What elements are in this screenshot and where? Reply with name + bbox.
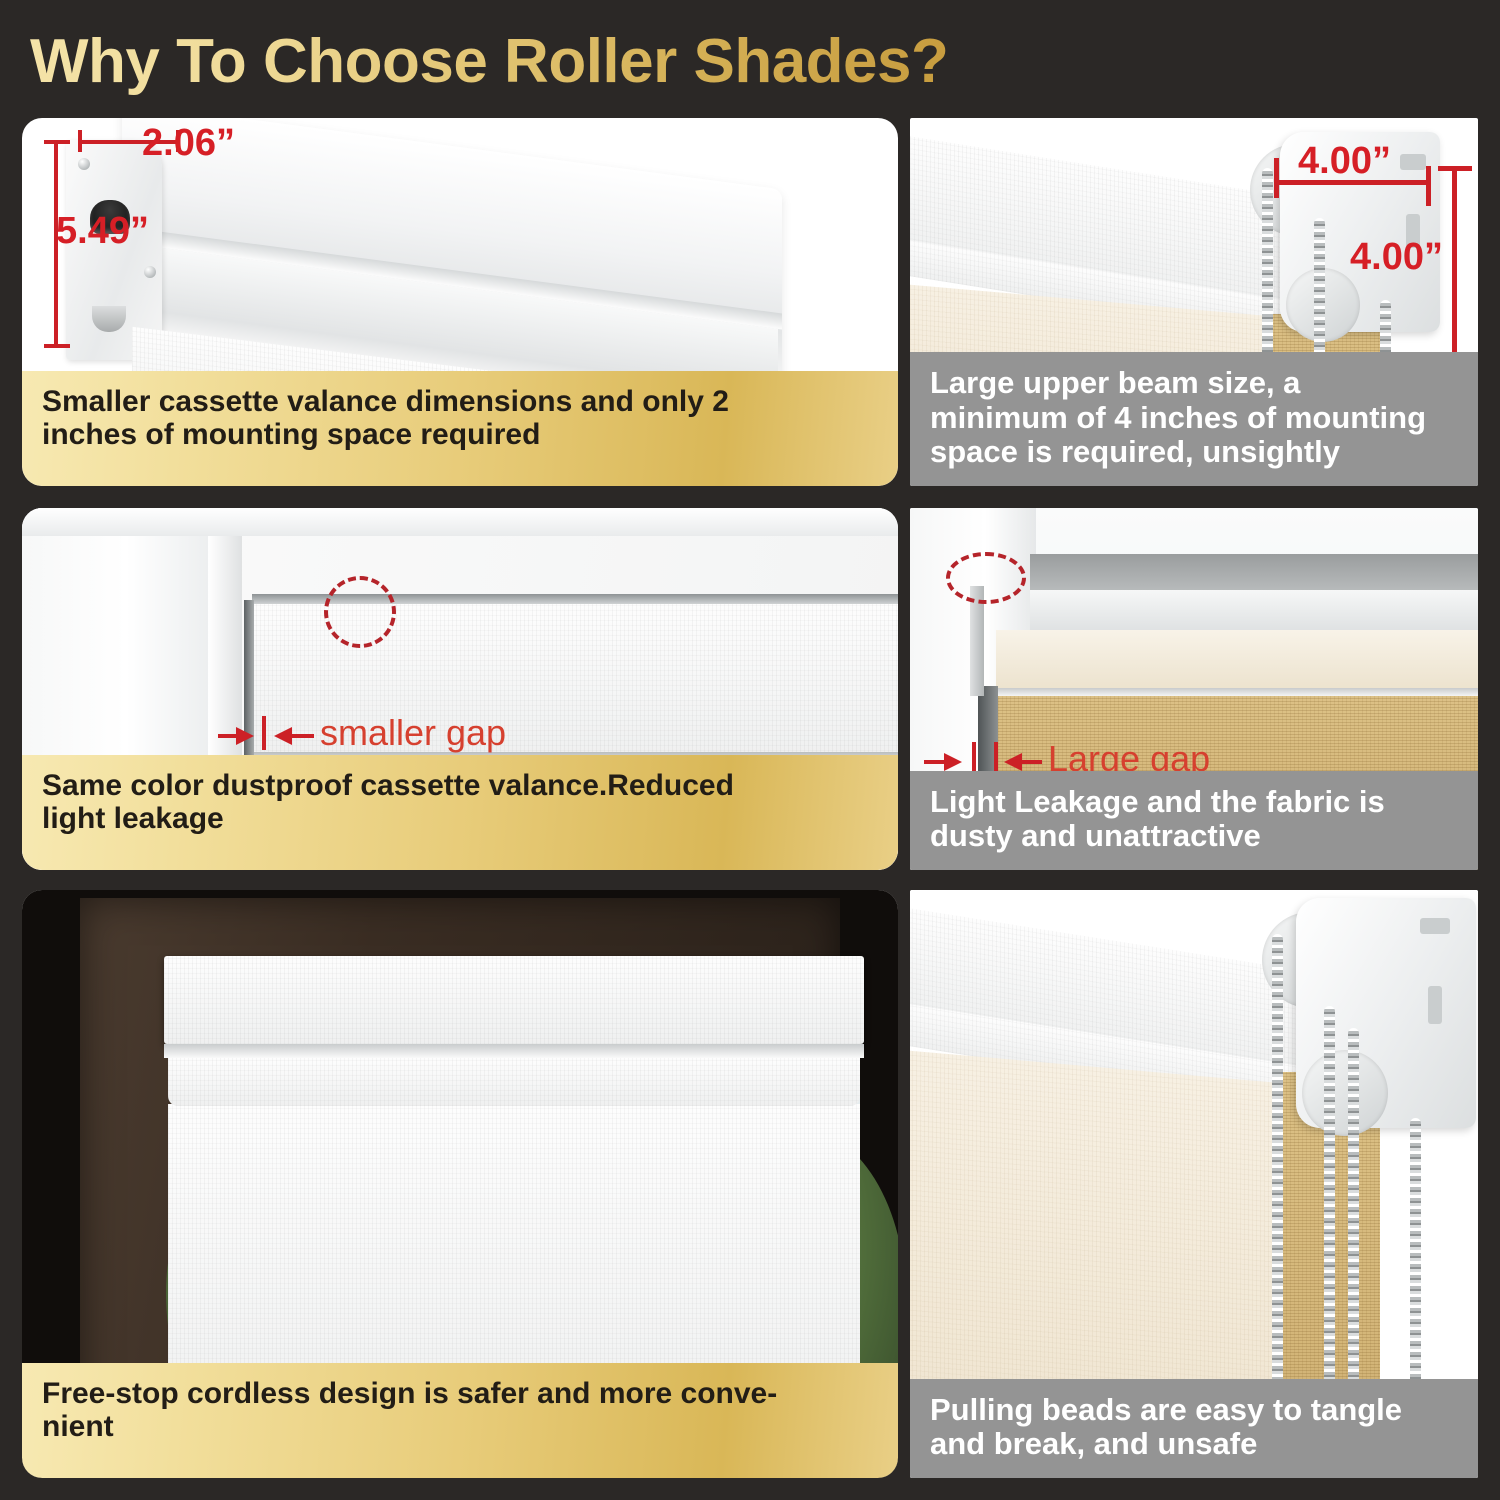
- caption-line: Large upper beam size, a: [930, 366, 1458, 401]
- roller-tube-shadow: [1030, 554, 1478, 594]
- caption-line: minimum of 4 inches of mounting: [930, 401, 1458, 436]
- panel-6-caption: Pulling beads are easy to tangle and bre…: [910, 1379, 1478, 1478]
- panel-cassette-dimensions: 2.06” 5.49” Smaller cassette valance dim…: [22, 118, 898, 486]
- height-dimension-label: 4.00”: [1350, 236, 1443, 279]
- width-dim-tick-right: [1426, 166, 1431, 206]
- height-dim-line: [1452, 166, 1457, 378]
- panel-3-caption: Same color dustproof cassette valance.Re…: [22, 755, 898, 870]
- height-dimension-label: 5.49”: [56, 210, 149, 253]
- panel-large-beam: 4.00” 4.00” Large upper beam size, a min…: [910, 118, 1478, 486]
- caption-line: inches of mounting space required: [42, 418, 878, 452]
- caption-line: Smaller cassette valance dimensions and …: [42, 385, 878, 419]
- panel-2-caption: Large upper beam size, a minimum of 4 in…: [910, 352, 1478, 486]
- caption-line: Pulling beads are easy to tangle: [930, 1393, 1458, 1428]
- gap-arrow-tail-right: [292, 734, 314, 738]
- width-dim-tick-left: [78, 130, 82, 152]
- caption-line: Free-stop cordless design is safer and m…: [42, 1377, 878, 1411]
- smaller-gap-label: smaller gap: [320, 712, 506, 754]
- valance-lip: [164, 1044, 864, 1058]
- page-title-text: Why To Choose Roller Shades?: [30, 26, 948, 97]
- gap-arrow-left: [274, 727, 292, 745]
- gap-arrow-tail-left: [924, 760, 946, 764]
- width-dim-tick-left: [1274, 158, 1279, 198]
- gap-arrow-right: [236, 727, 254, 745]
- cream-valance-band: [996, 630, 1478, 692]
- gap-highlight-circle: [324, 576, 396, 648]
- panel-4-caption: Light Leakage and the fabric is dusty an…: [910, 771, 1478, 870]
- window-frame-top: [22, 508, 898, 536]
- bracket-notch-top: [1400, 154, 1426, 170]
- caption-line: nient: [42, 1410, 878, 1444]
- caption-line: Light Leakage and the fabric is: [930, 785, 1458, 820]
- caption-line: Same color dustproof cassette valance.Re…: [42, 769, 878, 803]
- width-dimension-label: 4.00”: [1298, 140, 1391, 183]
- panel-smaller-gap: smaller gap Same color dustproof cassett…: [22, 508, 898, 870]
- caption-line: space is required, unsightly: [930, 435, 1458, 470]
- cap-screw-top: [78, 158, 90, 170]
- height-dim-tick-top: [44, 140, 70, 144]
- valance-roll: [168, 1058, 860, 1106]
- caption-line: and break, and unsafe: [930, 1427, 1458, 1462]
- cap-screw-mid: [144, 266, 156, 278]
- valance-lip: [996, 688, 1478, 696]
- caption-line: light leakage: [42, 802, 878, 836]
- panel-5-caption: Free-stop cordless design is safer and m…: [22, 1363, 898, 1478]
- bracket-notch-mid: [1428, 986, 1442, 1024]
- width-dimension-label: 2.06”: [142, 122, 235, 165]
- panel-pull-beads: Pulling beads are easy to tangle and bre…: [910, 890, 1478, 1478]
- height-dim-tick-bottom: [44, 344, 70, 348]
- gap-measure-bar: [262, 716, 266, 750]
- panel-cordless-window: Free-stop cordless design is safer and m…: [22, 890, 898, 1478]
- bracket-disc-lower: [1302, 1050, 1388, 1136]
- gap-arrow-right: [944, 753, 962, 771]
- gap-highlight-circle: [946, 552, 1026, 604]
- caption-line: dusty and unattractive: [930, 819, 1458, 854]
- panel-1-caption: Smaller cassette valance dimensions and …: [22, 371, 898, 486]
- gap-arrow-tail-right: [1022, 760, 1042, 764]
- cassette-valance: [164, 956, 864, 1044]
- gap-arrow-left: [1004, 753, 1022, 771]
- height-dim-tick-top: [1438, 166, 1472, 171]
- bracket-notch-top: [1420, 918, 1450, 934]
- panel-large-gap: Large gap Light Leakage and the fabric i…: [910, 508, 1478, 870]
- page-title: Why To Choose Roller Shades?: [30, 18, 1080, 104]
